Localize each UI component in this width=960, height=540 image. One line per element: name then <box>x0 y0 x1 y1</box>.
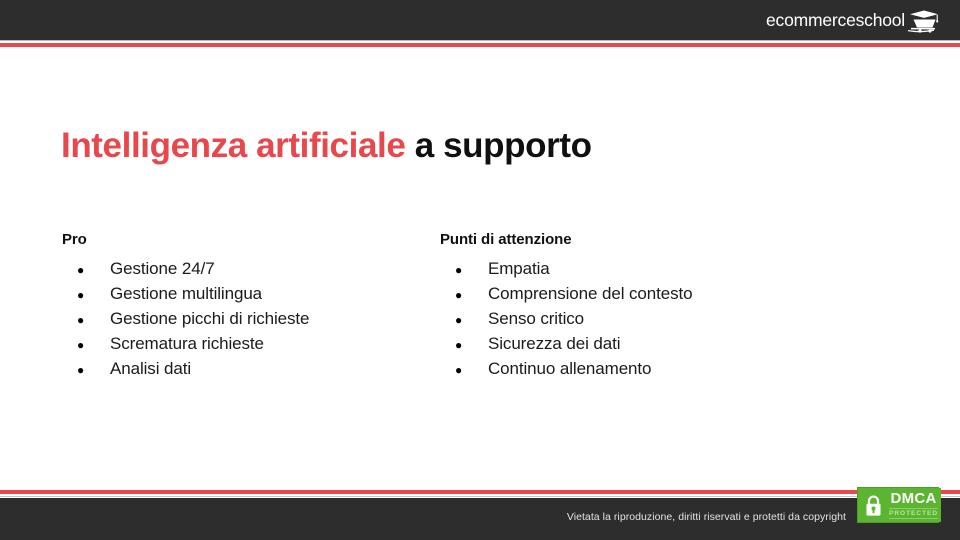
list-item-label: Gestione picchi di richieste <box>110 307 432 331</box>
bullet-dot-icon: ● <box>77 308 110 332</box>
brand-logo-text: ecommerceschool <box>766 12 905 30</box>
list-item: ● Sicurezza dei dati <box>440 332 840 357</box>
list-item-label: Continuo allenamento <box>488 357 840 381</box>
footer-accent-rule <box>0 490 960 494</box>
list-item-label: Empatia <box>488 257 840 281</box>
column-pro: Pro ● Gestione 24/7 ● Gestione multiling… <box>62 231 432 382</box>
list-item: ● Gestione multilingua <box>62 282 432 307</box>
padlock-icon <box>858 488 888 522</box>
list-item: ● Comprensione del contesto <box>440 282 840 307</box>
list-item: ● Gestione picchi di richieste <box>62 307 432 332</box>
brand-logo[interactable]: ecommerceschool <box>766 9 942 33</box>
list-item: ● Senso critico <box>440 307 840 332</box>
graduation-cart-icon <box>908 9 942 33</box>
header-accent-rule <box>0 43 960 47</box>
bullet-dot-icon: ● <box>455 308 488 332</box>
list-item-label: Senso critico <box>488 307 840 331</box>
bullet-list-pro: ● Gestione 24/7 ● Gestione multilingua ●… <box>62 257 432 382</box>
bullet-dot-icon: ● <box>77 258 110 282</box>
list-item-label: Gestione 24/7 <box>110 257 432 281</box>
bullet-dot-icon: ● <box>77 333 110 357</box>
slide-root: ecommerceschool Intelligenza artificiale… <box>0 0 960 540</box>
footer-hairline-divider <box>0 496 960 497</box>
list-item: ● Continuo allenamento <box>440 357 840 382</box>
bullet-dot-icon: ● <box>455 258 488 282</box>
header-hairline-divider <box>0 40 960 41</box>
list-item-label: Analisi dati <box>110 357 432 381</box>
page-title-accent: Intelligenza artificiale <box>61 126 405 165</box>
dmca-badge-text: DMCA PROTECTED <box>888 488 941 522</box>
copyright-notice: Vietata la riproduzione, diritti riserva… <box>0 511 846 524</box>
bullet-dot-icon: ● <box>455 358 488 382</box>
list-item-label: Comprensione del contesto <box>488 282 840 306</box>
bullet-dot-icon: ● <box>455 283 488 307</box>
bullet-list-attenzione: ● Empatia ● Comprensione del contesto ● … <box>440 257 840 382</box>
dmca-title: DMCA <box>890 491 936 506</box>
column-heading: Punti di attenzione <box>440 231 840 249</box>
column-heading: Pro <box>62 231 432 249</box>
list-item: ● Empatia <box>440 257 840 282</box>
column-punti-di-attenzione: Punti di attenzione ● Empatia ● Comprens… <box>440 231 840 382</box>
bullet-dot-icon: ● <box>455 333 488 357</box>
list-item: ● Gestione 24/7 <box>62 257 432 282</box>
page-title-plain: a supporto <box>405 126 591 165</box>
list-item-label: Scrematura richieste <box>110 332 432 356</box>
list-item: ● Analisi dati <box>62 357 432 382</box>
list-item-label: Sicurezza dei dati <box>488 332 840 356</box>
bullet-dot-icon: ● <box>77 358 110 382</box>
list-item: ● Scrematura richieste <box>62 332 432 357</box>
bullet-dot-icon: ● <box>77 283 110 307</box>
list-item-label: Gestione multilingua <box>110 282 432 306</box>
page-title: Intelligenza artificiale a supporto <box>61 124 592 168</box>
dmca-protected-badge[interactable]: DMCA PROTECTED <box>857 487 939 523</box>
dmca-subtitle: PROTECTED <box>889 508 938 519</box>
